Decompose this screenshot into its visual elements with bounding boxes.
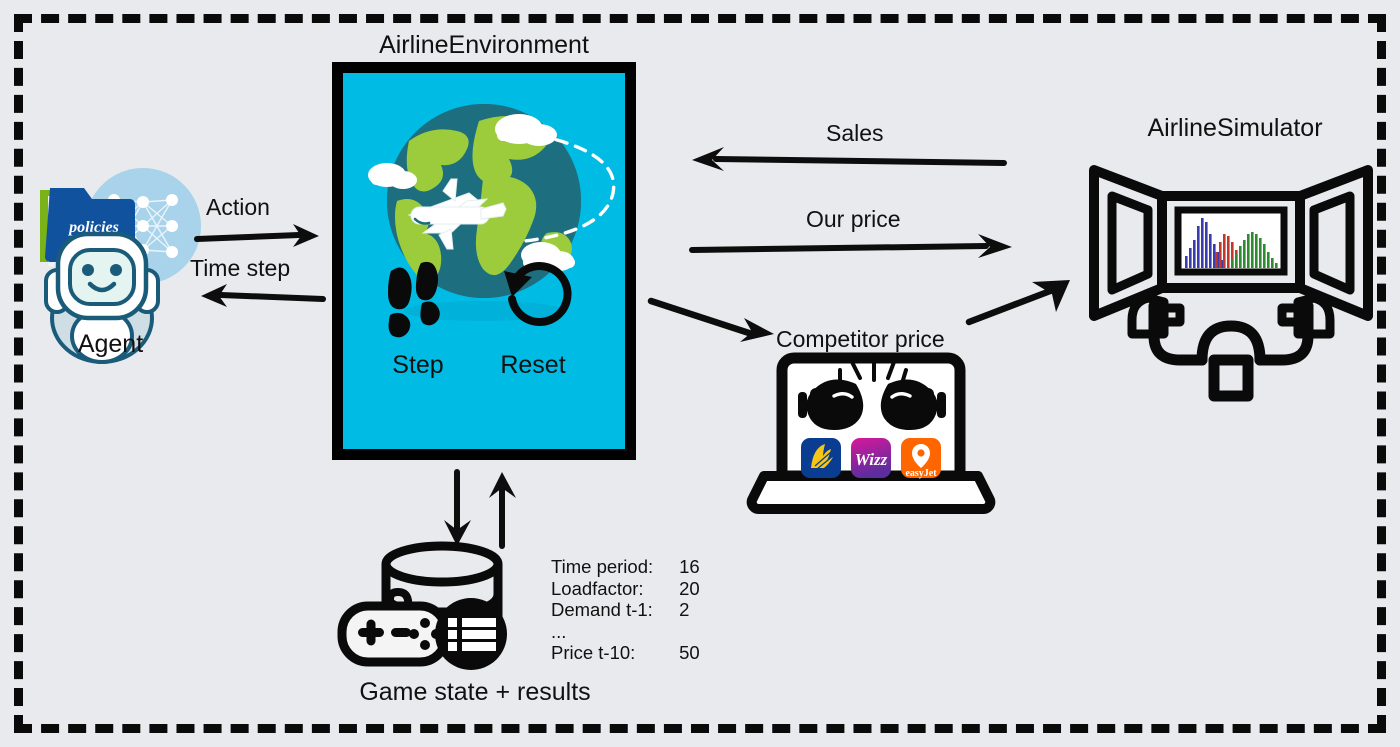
game-state-database-icon <box>336 540 546 680</box>
time-step-arrow <box>195 283 325 309</box>
state-value <box>679 621 700 643</box>
list-badge-icon <box>435 598 507 670</box>
competitor-logo-ryanair <box>801 438 841 478</box>
airline-environment-panel: Step Reset <box>332 62 636 460</box>
state-key: ... <box>551 621 679 643</box>
table-row: Demand t-1: 2 <box>551 599 700 621</box>
competitor-logo-wizz: Wizz <box>851 438 891 478</box>
gamepad-icon <box>342 592 446 662</box>
environment-title: AirlineEnvironment <box>332 31 636 60</box>
state-key: Demand t-1: <box>551 599 679 621</box>
action-arrow-label: Action <box>206 194 270 221</box>
state-value: 2 <box>679 599 700 621</box>
agent-label: Agent <box>18 330 203 359</box>
state-value: 20 <box>679 578 700 600</box>
diagram-canvas: policies Agent Action Time step <box>0 0 1400 747</box>
competitor-logo-easyjet: easyJet <box>901 438 941 479</box>
airline-simulator-icon <box>1086 148 1376 398</box>
state-write-read-arrows <box>440 470 526 548</box>
simulator-title: AirlineSimulator <box>1090 114 1380 143</box>
step-button-label[interactable]: Step <box>363 351 473 380</box>
table-row: Price t-10: 50 <box>551 642 700 664</box>
easyjet-logo-text: easyJet <box>905 468 937 479</box>
action-arrow <box>195 222 325 248</box>
our-price-arrow-label: Our price <box>806 206 901 233</box>
game-state-values-table: Time period: 16 Loadfactor: 20 Demand t-… <box>551 556 700 664</box>
wizz-logo-text: Wizz <box>855 450 888 469</box>
competitor-to-simulator-arrow <box>966 278 1076 326</box>
game-state-label: Game state + results <box>330 678 620 707</box>
state-value: 50 <box>679 642 700 664</box>
reset-button-label[interactable]: Reset <box>473 351 593 380</box>
table-row: ... <box>551 621 700 643</box>
circular-arrow-icon[interactable] <box>498 259 576 337</box>
state-key: Loadfactor: <box>551 578 679 600</box>
sales-arrow <box>686 145 1006 171</box>
table-row: Loadfactor: 20 <box>551 578 700 600</box>
footprints-icon[interactable] <box>385 261 451 339</box>
state-key: Time period: <box>551 556 679 578</box>
table-row: Time period: 16 <box>551 556 700 578</box>
competitor-laptop-icon: Wizz easyJet <box>748 348 994 514</box>
time-step-arrow-label: Time step <box>190 255 290 282</box>
our-price-arrow <box>690 232 1020 258</box>
sales-arrow-label: Sales <box>826 120 884 147</box>
state-value: 16 <box>679 556 700 578</box>
state-key: Price t-10: <box>551 642 679 664</box>
env-to-competitor-arrow <box>648 296 778 344</box>
